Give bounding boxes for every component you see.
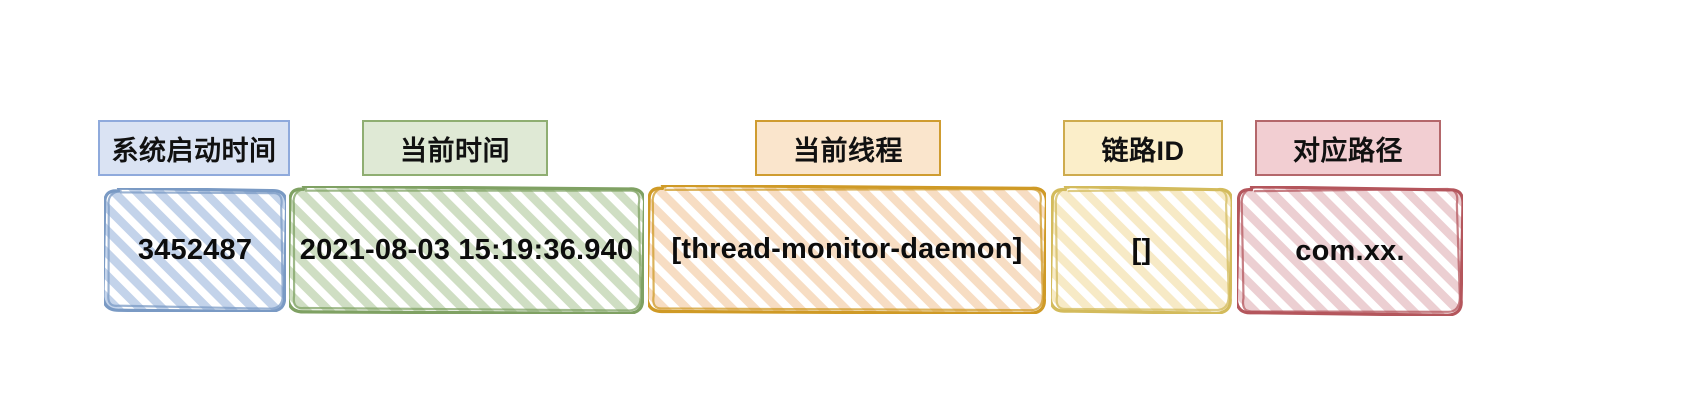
- label-current-time: 当前时间: [362, 120, 548, 176]
- label-corresponding-path: 对应路径: [1255, 120, 1441, 176]
- value-text-current-thread-value: [thread-monitor-daemon]: [648, 185, 1046, 314]
- value-text-startup-time-value: 3452487: [104, 188, 286, 312]
- value-trace-id-value: []: [1051, 186, 1232, 314]
- label-system-startup-time: 系统启动时间: [98, 120, 290, 176]
- value-text-trace-id-value: []: [1051, 186, 1232, 314]
- value-text-current-time-value: 2021-08-03 15:19:36.940: [289, 186, 644, 314]
- label-current-thread: 当前线程: [755, 120, 941, 176]
- value-startup-time-value: 3452487: [104, 188, 286, 312]
- value-current-thread-value: [thread-monitor-daemon]: [648, 185, 1046, 314]
- value-text-path-value: com.xx.: [1237, 186, 1463, 316]
- value-current-time-value: 2021-08-03 15:19:36.940: [289, 186, 644, 314]
- log-field-breakdown-diagram: 系统启动时间当前时间当前线程链路ID对应路径34524872021-08-03 …: [0, 0, 1690, 402]
- value-path-value: com.xx.: [1237, 186, 1463, 316]
- label-trace-id: 链路ID: [1063, 120, 1223, 176]
